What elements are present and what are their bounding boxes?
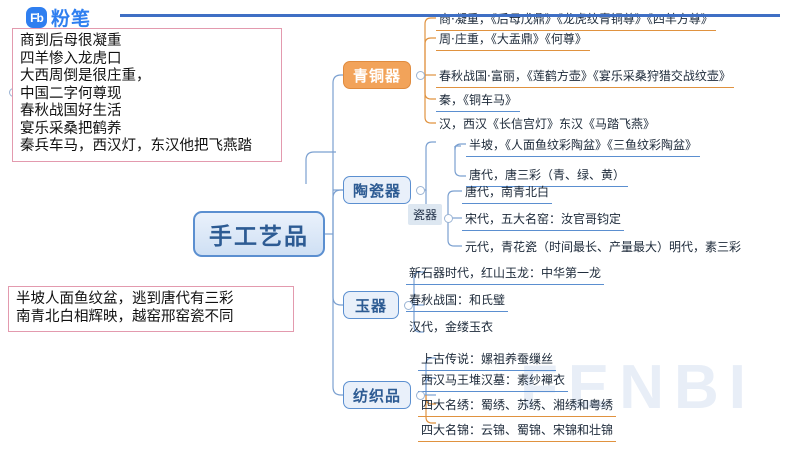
fenbi-logo-icon: Fb: [26, 7, 47, 28]
leaf-row[interactable]: 春秋战国：和氏璧: [406, 291, 508, 312]
note-line: 大西周倒是很庄重，: [20, 68, 274, 86]
leaf-row[interactable]: 上古传说：嫘祖养蚕缫丝: [418, 350, 556, 371]
leaf-row[interactable]: 周·庄重，《大盂鼎》《何尊》: [436, 30, 590, 51]
leaf-row[interactable]: 西汉马王堆汉墓：素纱襌衣: [418, 371, 568, 392]
leaf-row[interactable]: 四大名锦：云锦、蜀锦、宋锦和壮锦: [418, 421, 616, 442]
fenbi-logo: Fb 粉笔: [26, 4, 91, 31]
memory-rhyme-bottom-box: 半坡人面鱼纹盆，逃到唐代有三彩 南青北白相辉映，越窑邢窑瓷不同: [8, 286, 294, 332]
branch-label: 青铜器: [353, 65, 401, 86]
branch-node-bronze[interactable]: 青铜器: [343, 61, 411, 89]
note-line: 半坡人面鱼纹盆，逃到唐代有三彩: [16, 291, 286, 309]
note-line: 四羊惨入龙虎口: [20, 51, 274, 69]
note-line: 南青北白相辉映，越窑邢窑瓷不同: [16, 309, 286, 327]
mindmap-canvas: FENBI: [0, 0, 800, 450]
mindmap-root-label: 手工艺品: [209, 217, 309, 251]
note-line: 宴乐采桑把鹤养: [20, 121, 274, 139]
collapse-handle-bronze[interactable]: [416, 71, 425, 80]
note-line: 商到后母很凝重: [20, 33, 274, 51]
memory-rhyme-top-box: 商到后母很凝重 四羊惨入龙虎口 大西周倒是很庄重， 中国二字何尊现 春秋战国好生…: [12, 28, 282, 162]
leaf-row[interactable]: 新石器时代，红山玉龙：中华第一龙: [406, 264, 604, 285]
collapse-handle-porcelain[interactable]: [444, 214, 453, 223]
branch-node-jade[interactable]: 玉器: [343, 291, 399, 319]
collapse-handle-textile[interactable]: [416, 391, 425, 400]
sub-node-porcelain[interactable]: 瓷器: [408, 204, 442, 225]
leaf-row[interactable]: 唐代，南青北白: [462, 183, 552, 204]
leaf-row[interactable]: 半坡，《人面鱼纹彩陶盆》《三鱼纹彩陶盆》: [466, 136, 700, 157]
fenbi-logo-text: 粉笔: [51, 4, 91, 31]
leaf-row[interactable]: 宋代，五大名窑：汝官哥钧定: [462, 210, 624, 231]
collapse-handle-jade[interactable]: [404, 301, 413, 310]
branch-label: 陶瓷器: [353, 180, 401, 201]
leaf-row[interactable]: 四大名绣：蜀绣、苏绣、湘绣和粤绣: [418, 396, 616, 417]
leaf-row[interactable]: 春秋战国·富丽，《莲鹤方壶》《宴乐采桑狩猎交战纹壶》: [436, 67, 734, 88]
header-divider: [120, 14, 780, 17]
branch-node-ceramic[interactable]: 陶瓷器: [343, 176, 411, 204]
note-line: 春秋战国好生活: [20, 103, 274, 121]
branch-label: 玉器: [355, 295, 387, 316]
branch-label: 纺织品: [353, 385, 401, 406]
mindmap-root-node[interactable]: 手工艺品: [193, 211, 325, 257]
leaf-row[interactable]: 元代，青花瓷（时间最长、产量最大）明代，素三彩: [462, 238, 744, 258]
note-line: 秦兵车马，西汉灯，东汉他把飞燕踏: [20, 138, 274, 156]
leaf-row[interactable]: 秦，《铜车马》: [436, 91, 520, 112]
collapse-handle-ceramic[interactable]: [416, 186, 425, 195]
branch-node-textile[interactable]: 纺织品: [343, 381, 411, 409]
leaf-row[interactable]: 汉，西汉《长信宫灯》东汉《马踏飞燕》: [436, 115, 658, 135]
leaf-row[interactable]: 汉代，金缕玉衣: [406, 318, 496, 338]
note-line: 中国二字何尊现: [20, 86, 274, 104]
